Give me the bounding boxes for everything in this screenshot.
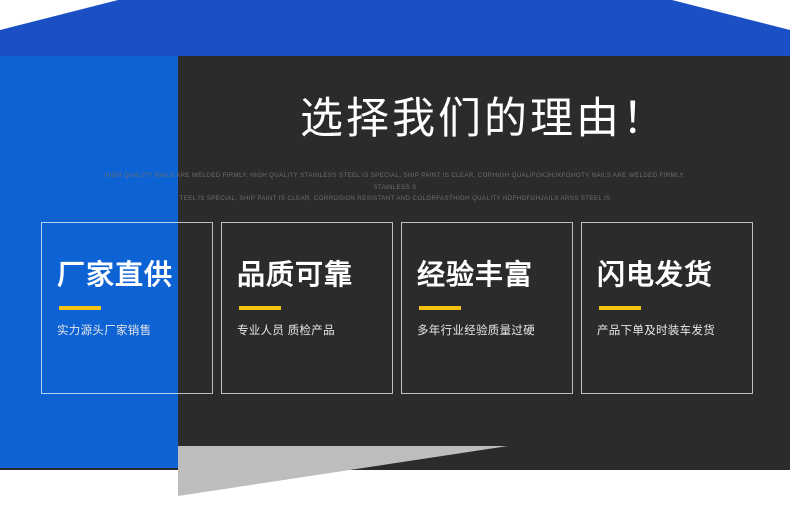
subtitle-line-2: TEEL IS SPECIAL, SHIP PAINT IS CLEAR, CO… <box>95 193 695 205</box>
feature-card-title: 闪电发货 <box>597 258 752 292</box>
accent-rule <box>239 306 281 310</box>
accent-rule <box>599 306 641 310</box>
feature-card-list: 厂家直供 实力源头厂家销售 品质可靠 专业人员 质检产品 经验丰富 多年行业经验… <box>41 222 753 394</box>
page-title: 选择我们的理由！ <box>178 93 790 145</box>
bottom-gray-triangle-shape <box>178 446 508 496</box>
accent-rule <box>419 306 461 310</box>
feature-card-title: 厂家直供 <box>57 258 212 292</box>
subtitle-line-1: HIGH QUALITY NAILS ARE WELDED FIRMLY, HI… <box>95 170 695 193</box>
subtitle-paragraph: HIGH QUALITY NAILS ARE WELDED FIRMLY, HI… <box>95 170 695 205</box>
promo-banner: 选择我们的理由！ HIGH QUALITY NAILS ARE WELDED F… <box>0 0 790 522</box>
accent-rule <box>59 306 101 310</box>
feature-card-description: 专业人员 质检产品 <box>237 323 392 339</box>
feature-card-2[interactable]: 品质可靠 专业人员 质检产品 <box>221 222 393 394</box>
feature-card-1[interactable]: 厂家直供 实力源头厂家销售 <box>41 222 213 394</box>
feature-card-description: 产品下单及时装车发货 <box>597 323 752 339</box>
top-blue-band-shape <box>0 0 790 56</box>
feature-card-title: 经验丰富 <box>417 258 572 292</box>
feature-card-description: 实力源头厂家销售 <box>57 323 212 339</box>
feature-card-3[interactable]: 经验丰富 多年行业经验质量过硬 <box>401 222 573 394</box>
feature-card-title: 品质可靠 <box>237 258 392 292</box>
feature-card-4[interactable]: 闪电发货 产品下单及时装车发货 <box>581 222 753 394</box>
feature-card-description: 多年行业经验质量过硬 <box>417 323 572 339</box>
